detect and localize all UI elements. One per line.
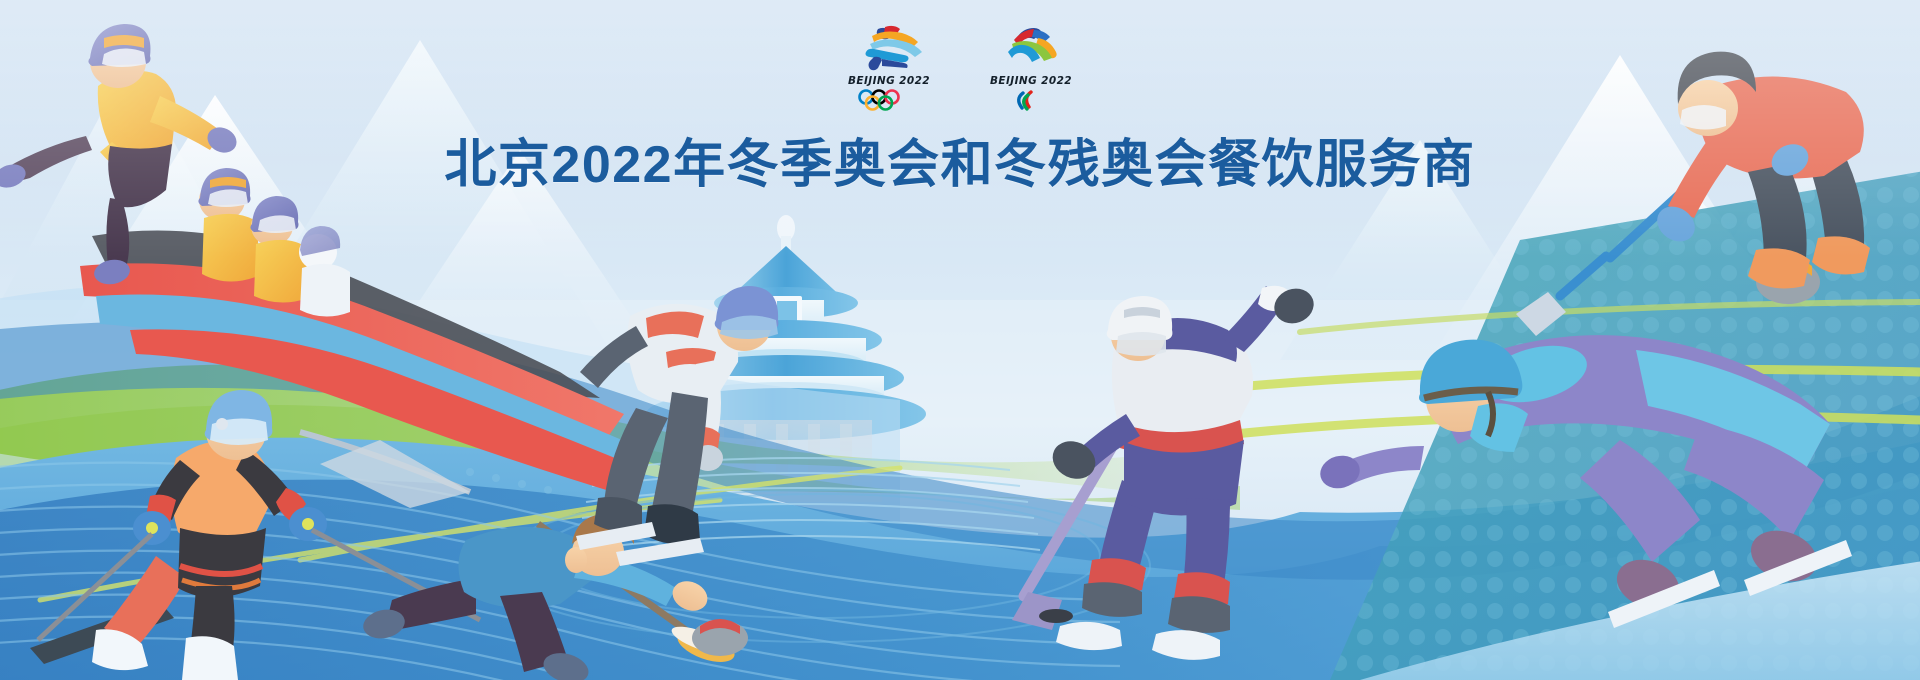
beijing-2022-catering-banner: BEIJING 2022 BEIJING 20 — [0, 0, 1920, 680]
page-title: 北京2022年冬季奥会和冬残奥会餐饮服务商 — [0, 122, 1920, 197]
paralympic-emblem-mark — [994, 24, 1068, 72]
olympic-rings-icon — [853, 89, 925, 111]
olympic-wordmark: BEIJING 2022 — [848, 75, 930, 87]
beijing-2022-olympic-emblem: BEIJING 2022 — [841, 24, 937, 111]
emblem-row: BEIJING 2022 BEIJING 20 — [0, 24, 1920, 111]
olympic-emblem-mark — [852, 24, 926, 72]
agitos-icon — [995, 89, 1067, 111]
beijing-2022-paralympic-emblem: BEIJING 2022 — [983, 24, 1079, 111]
paralympic-wordmark: BEIJING 2022 — [990, 75, 1072, 87]
